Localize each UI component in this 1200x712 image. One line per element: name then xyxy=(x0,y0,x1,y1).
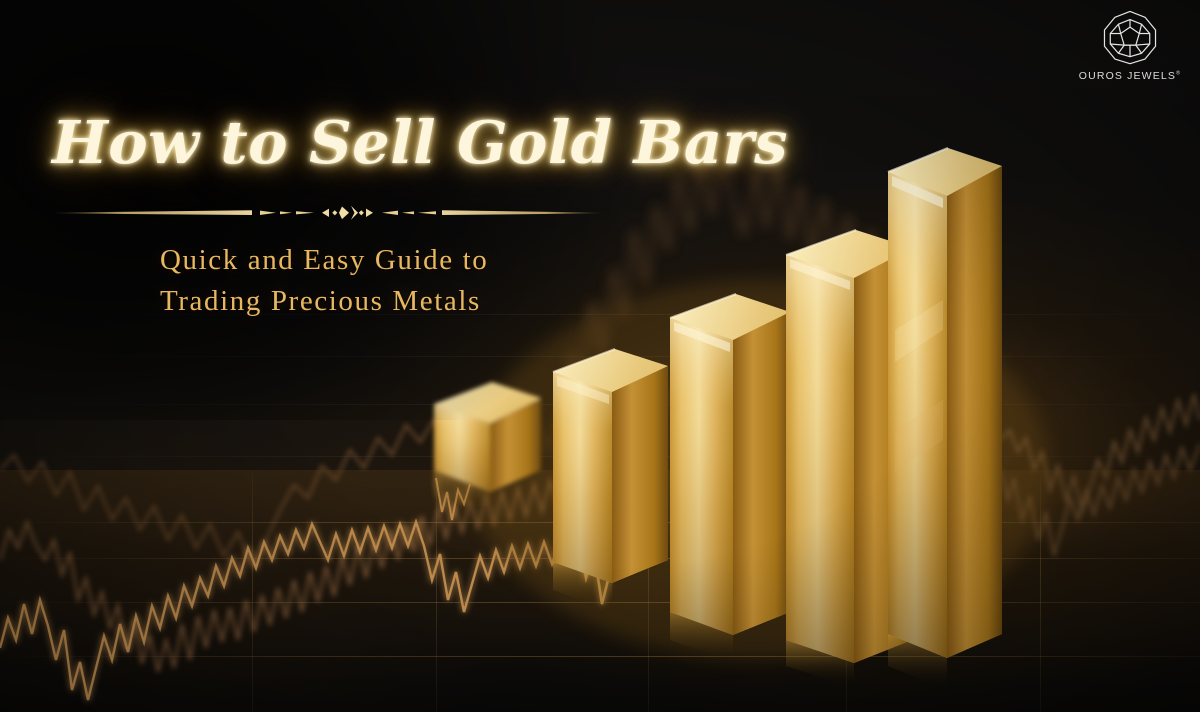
subtitle-line-2: Trading Precious Metals xyxy=(160,281,672,322)
gold-bar-3 xyxy=(670,294,790,662)
page-subtitle: Quick and Easy Guide to Trading Precious… xyxy=(52,240,672,322)
subtitle-line-1: Quick and Easy Guide to xyxy=(160,240,672,281)
brand-name-text: OUROS JEWELS xyxy=(1079,70,1176,82)
headline-block: How to Sell Gold Bars xyxy=(52,112,672,322)
brand-name: OUROS JEWELS® xyxy=(1079,70,1181,82)
gold-bar-5 xyxy=(888,148,1002,690)
divider-svg xyxy=(52,202,602,224)
brand-logo[interactable]: OUROS JEWELS® xyxy=(1078,8,1182,84)
divider-ornament xyxy=(52,202,602,224)
trademark-symbol: ® xyxy=(1176,71,1181,77)
gold-bar-chart xyxy=(0,0,1200,712)
gem-octagon-icon xyxy=(1101,8,1159,66)
banner-root: How to Sell Gold Bars xyxy=(0,0,1200,712)
page-title: How to Sell Gold Bars xyxy=(52,112,672,174)
